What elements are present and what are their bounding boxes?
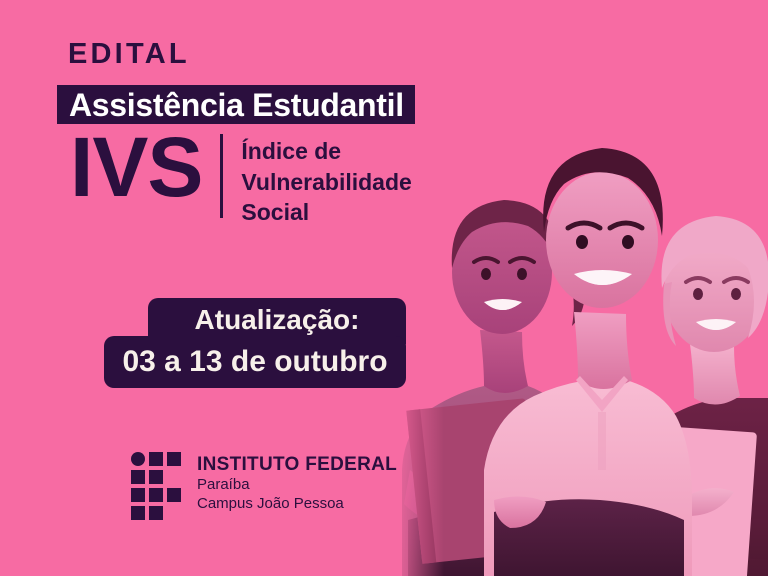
logo-cell [149,488,163,502]
program-block: IVS Índice de Vulnerabilidade Social [70,128,412,228]
logo-cell [167,488,181,502]
logo-wordmark: INSTITUTO FEDERAL Paraíba Campus João Pe… [197,454,397,513]
poster: EDITAL Assistência Estudantil IVS Índice… [0,0,768,576]
program-expansion-line-1: Índice de [241,138,341,164]
logo-cell [149,470,163,484]
update-callout: Atualização: 03 a 13 de outubro [104,298,406,388]
program-expansion-line-2: Vulnerabilidade [241,169,411,195]
logo-cell-circle [131,452,145,466]
if-logo-mark-icon [131,452,183,520]
program-expansion: Índice de Vulnerabilidade Social [241,136,411,228]
logo-campus: Campus João Pessoa [197,495,397,514]
students-photo [388,0,768,576]
logo-cell-empty [167,470,181,484]
logo-cell [131,470,145,484]
update-period: 03 a 13 de outubro [122,347,387,377]
logo-cell-empty [167,506,181,520]
update-period-plate: 03 a 13 de outubro [104,336,406,388]
logo-cell [131,488,145,502]
page-title: Assistência Estudantil [69,89,404,121]
logo-state: Paraíba [197,476,397,495]
institucional-logo: INSTITUTO FEDERAL Paraíba Campus João Pe… [131,452,397,520]
program-acronym: IVS [70,128,202,208]
logo-cell [167,452,181,466]
logo-institution: INSTITUTO FEDERAL [197,454,397,476]
update-label: Atualização: [195,306,360,336]
title-banner: Assistência Estudantil [57,85,415,124]
kicker-edital: EDITAL [68,40,190,69]
vertical-divider [220,134,223,218]
program-expansion-line-3: Social [241,199,309,225]
logo-cell [149,506,163,520]
logo-cell [149,452,163,466]
logo-cell [131,506,145,520]
